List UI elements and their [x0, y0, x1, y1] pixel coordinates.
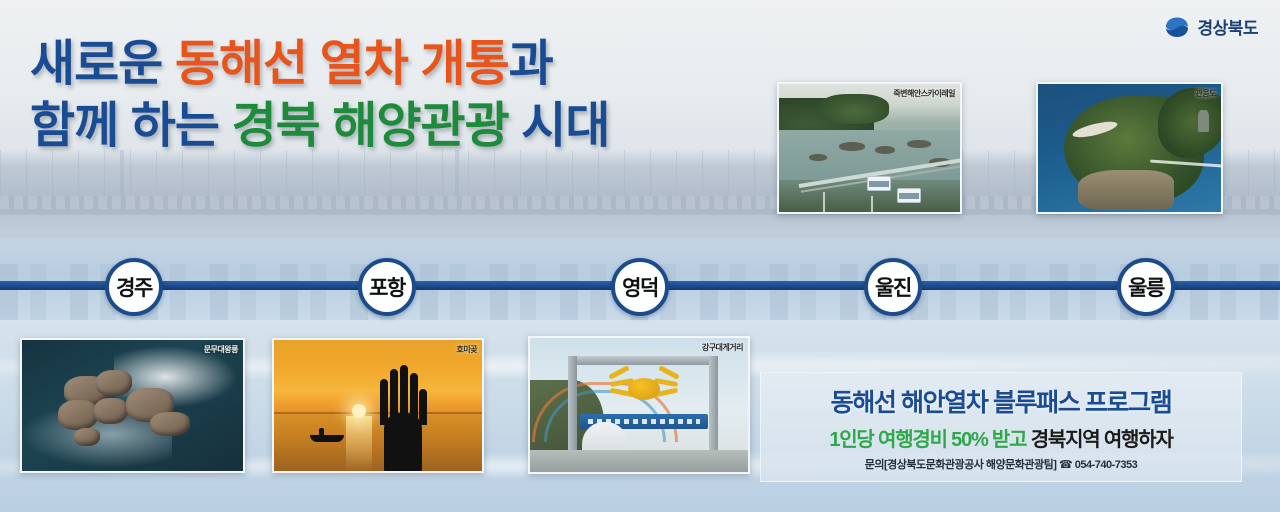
photo-ganggu-daege-street[interactable]: 강구대게거리 — [528, 336, 750, 474]
station-marker-uljin[interactable]: 울진 — [864, 258, 922, 316]
photo-rock — [58, 400, 98, 430]
photo-boat — [310, 430, 344, 442]
photo-gwaneumdo[interactable]: 관음도 — [1036, 82, 1223, 214]
station-label: 경주 — [116, 272, 152, 302]
photo-rock — [875, 146, 895, 154]
headline-segment: 새로운 — [30, 37, 175, 91]
photo-rock — [96, 370, 132, 396]
headline-line-1: 새로운 동해선 열차 개통과 — [30, 34, 609, 96]
photo-boat-hull — [310, 435, 344, 442]
station-marker-yeongdeok[interactable]: 영덕 — [611, 258, 669, 316]
photo-rock — [839, 142, 865, 151]
photo-road — [530, 450, 750, 472]
photo-crab-leg — [658, 365, 680, 380]
photo-rail-post — [871, 196, 873, 214]
photo-homigot[interactable]: 호미곶 — [272, 338, 484, 473]
photo-jukbyeon-skyrail[interactable]: 죽변해안스카이레일 — [777, 82, 962, 214]
photo-rail-post — [823, 192, 825, 214]
headline-segment-highlight: 경북 해양관광 — [232, 99, 509, 153]
photo-crab-body — [628, 378, 660, 400]
program-subtitle-rest: 경북지역 여행하자 — [1031, 429, 1173, 451]
photo-gate-beam — [568, 356, 718, 365]
photo-rock — [809, 154, 827, 161]
photo-crab-leg — [608, 365, 630, 380]
station-label: 울진 — [875, 272, 911, 302]
photo-caption: 호미곶 — [456, 344, 477, 355]
photo-rock — [94, 398, 128, 424]
station-label: 포항 — [369, 272, 405, 302]
photo-sun-reflection — [346, 416, 372, 472]
photo-rock — [150, 412, 190, 436]
headline: 새로운 동해선 열차 개통과 함께 하는 경북 해양관광 시대 — [30, 34, 609, 157]
program-subtitle-highlight: 1인당 여행경비 50% 받고 — [829, 429, 1026, 451]
photo-crab-sculpture — [608, 366, 680, 410]
photo-caption: 관음도 — [1195, 88, 1216, 99]
headline-line-2: 함께 하는 경북 해양관광 시대 — [30, 96, 609, 158]
program-subtitle: 1인당 여행경비 50% 받고 경북지역 여행하자 — [829, 423, 1172, 452]
photo-caption: 문무대왕릉 — [204, 344, 238, 355]
photo-rock — [74, 428, 100, 446]
station-marker-pohang[interactable]: 포항 — [358, 258, 416, 316]
gyeongbuk-emblem-icon — [1164, 16, 1190, 38]
photo-skyrail-car — [867, 176, 891, 191]
logo-text: 경상북도 — [1197, 14, 1258, 39]
photo-boat-figure — [319, 428, 324, 436]
photo-hand-palm — [384, 413, 422, 473]
photo-sea-stack — [1198, 110, 1209, 132]
headline-segment: 과 — [509, 37, 553, 91]
program-title: 동해선 해안열차 블루패스 프로그램 — [831, 383, 1172, 419]
promo-banner: 경상북도 새로운 동해선 열차 개통과 함께 하는 경북 해양관광 시대 죽변해… — [0, 0, 1280, 512]
photo-sun — [352, 404, 366, 418]
photo-munmu-daewangneung[interactable]: 문무대왕릉 — [20, 338, 245, 473]
photo-caption: 강구대게거리 — [702, 342, 743, 353]
program-info-panel: 동해선 해안열차 블루패스 프로그램 1인당 여행경비 50% 받고 경북지역 … — [760, 372, 1242, 482]
photo-trees — [819, 94, 889, 124]
headline-segment-highlight: 동해선 열차 개통 — [175, 37, 509, 91]
photo-cliff — [1078, 170, 1174, 210]
photo-caption: 죽변해안스카이레일 — [893, 88, 955, 99]
photo-hand-finger — [419, 389, 427, 425]
station-marker-ulleung[interactable]: 울릉 — [1117, 258, 1175, 316]
photo-rock — [907, 140, 931, 148]
photo-sangsaeng-hand-sculpture — [378, 362, 428, 473]
station-label: 영덕 — [622, 272, 658, 302]
headline-segment: 함께 하는 — [30, 99, 232, 153]
brand-logo: 경상북도 — [1164, 14, 1258, 39]
contact-info: 문의[경상북도문화관광공사 해양문화관광팀] ☎ 054-740-7353 — [865, 456, 1137, 472]
station-label: 울릉 — [1128, 272, 1164, 302]
headline-segment: 시대 — [509, 99, 610, 153]
photo-skyrail-car — [897, 188, 921, 203]
station-marker-gyeongju[interactable]: 경주 — [105, 258, 163, 316]
